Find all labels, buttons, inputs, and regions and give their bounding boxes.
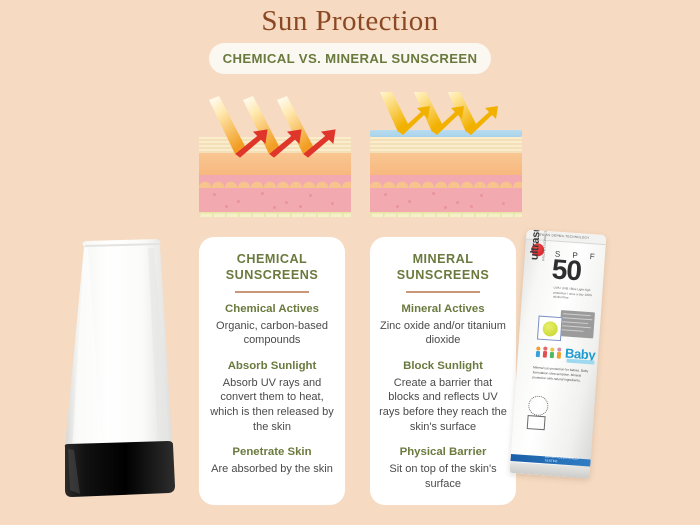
mineral-uv-rays <box>370 92 522 217</box>
mineral-block-actives-body: Zinc oxide and/or titanium dioxide <box>379 319 507 348</box>
chemical-card-heading-line1: CHEMICAL <box>237 252 307 266</box>
ultrasun-children-icon <box>534 345 565 360</box>
mineral-block-actives: Mineral Actives Zinc oxide and/or titani… <box>379 302 507 348</box>
ultrasun-grey-info-panel <box>559 310 595 338</box>
blank-white-tube <box>58 238 176 500</box>
mineral-block-block: Block Sunlight Create a barrier that blo… <box>379 359 507 434</box>
mineral-card-heading-line1: MINERAL <box>413 252 474 266</box>
ultrasun-description: Mineral sun protection for babies. Baby … <box>532 365 591 384</box>
ultrasun-certification-icon <box>528 395 549 416</box>
mineral-sunscreen-card: MINERAL SUNSCREENS Mineral Actives Zinc … <box>370 237 516 505</box>
ultrasun-product-tube: SWISS DERMA-TECHNOLOGY ultrasun PROFESSI… <box>504 229 613 479</box>
mineral-card-heading: MINERAL SUNSCREENS <box>379 251 507 283</box>
ultrasun-spf-fineprint: UVA / UVB / Blue Light high protection /… <box>553 286 600 303</box>
ultrasun-variant-tag <box>566 359 594 365</box>
chemical-sunscreen-card: CHEMICAL SUNSCREENS Chemical Actives Org… <box>199 237 345 505</box>
infographic-root: Sun Protection CHEMICAL VS. MINERAL SUNS… <box>0 0 700 525</box>
mineral-block-barrier-body: Sit on top of the skin's surface <box>379 462 507 491</box>
ultrasun-recycle-icon <box>527 415 546 430</box>
card-divider <box>406 291 480 293</box>
mineral-block-block-subheading: Block Sunlight <box>379 359 507 374</box>
mineral-block-actives-subheading: Mineral Actives <box>379 302 507 317</box>
chemical-block-penetrate: Penetrate Skin Are absorbed by the skin <box>208 445 336 476</box>
chemical-block-penetrate-subheading: Penetrate Skin <box>208 445 336 460</box>
ultrasun-tube-body: SWISS DERMA-TECHNOLOGY ultrasun PROFESSI… <box>510 230 607 479</box>
chemical-block-penetrate-body: Are absorbed by the skin <box>208 462 336 477</box>
mineral-card-heading-line2: SUNSCREENS <box>397 268 489 282</box>
chemical-block-actives-body: Organic, carbon-based compounds <box>208 319 336 348</box>
card-divider <box>235 291 309 293</box>
chemical-block-absorb: Absorb Sunlight Absorb UV rays and conve… <box>208 359 336 434</box>
mineral-block-block-body: Create a barrier that blocks and reflect… <box>379 376 507 435</box>
subtitle-pill: CHEMICAL VS. MINERAL SUNSCREEN <box>209 43 491 74</box>
ultrasun-spf-value: 50 <box>551 255 582 285</box>
chemical-skin-diagram <box>199 92 351 217</box>
chemical-block-absorb-subheading: Absorb Sunlight <box>208 359 336 374</box>
mineral-block-barrier: Physical Barrier Sit on top of the skin'… <box>379 445 507 491</box>
chemical-uv-rays <box>199 92 351 217</box>
blank-white-tube-graphic <box>58 238 176 500</box>
chemical-block-actives: Chemical Actives Organic, carbon-based c… <box>208 302 336 348</box>
mineral-block-barrier-subheading: Physical Barrier <box>379 445 507 460</box>
chemical-block-actives-subheading: Chemical Actives <box>208 302 336 317</box>
chemical-block-absorb-body: Absorb UV rays and convert them to heat,… <box>208 376 336 435</box>
mineral-skin-diagram <box>370 92 522 217</box>
ultrasun-eco-seal-icon <box>537 316 563 342</box>
page-title: Sun Protection <box>0 5 700 38</box>
chemical-card-heading-line2: SUNSCREENS <box>226 268 318 282</box>
chemical-card-heading: CHEMICAL SUNSCREENS <box>208 251 336 283</box>
subtitle-pill-label: CHEMICAL VS. MINERAL SUNSCREEN <box>223 51 478 66</box>
